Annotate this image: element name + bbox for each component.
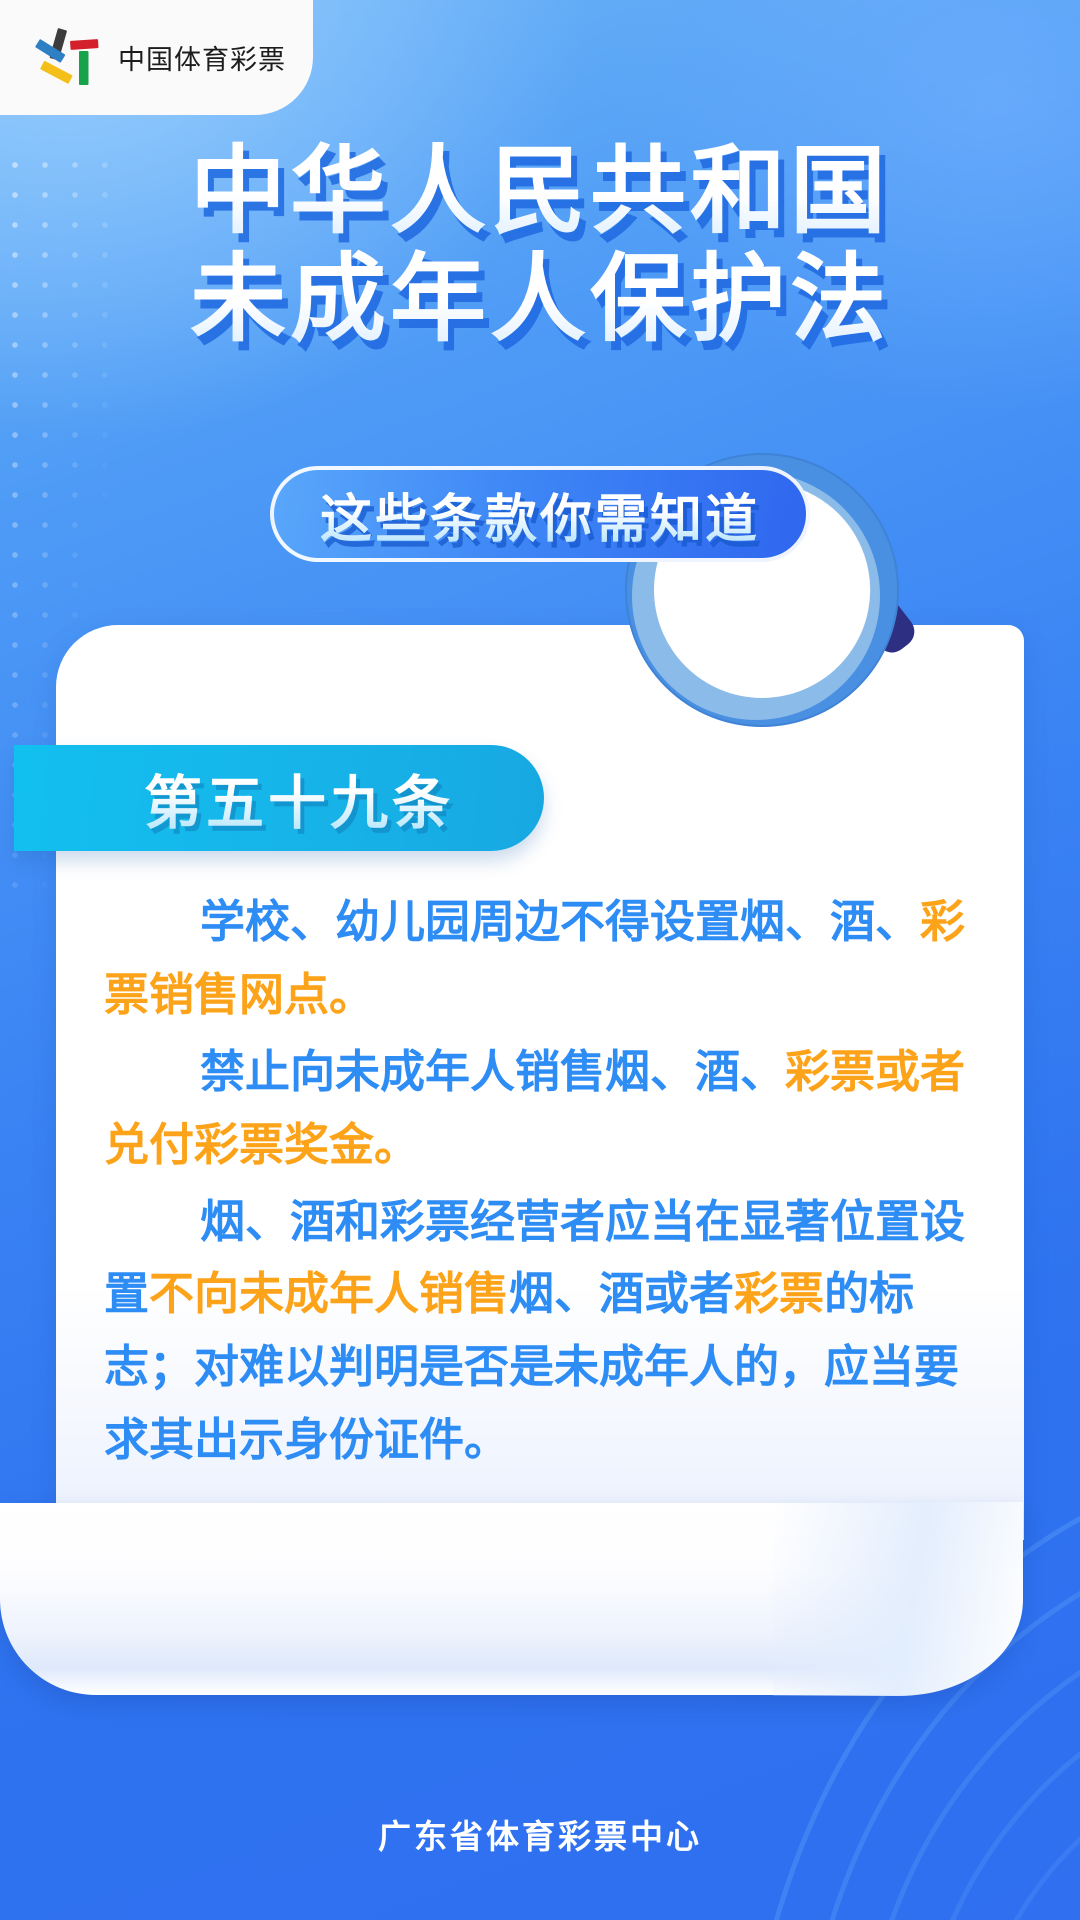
body-text-run: 禁止向未成年人销售烟、酒、 bbox=[200, 1045, 785, 1098]
article-paragraph: 学校、幼儿园周边不得设置烟、酒、彩票销售网点。 bbox=[104, 886, 984, 1032]
article-number-badge: 第五十九条 bbox=[14, 745, 544, 851]
article-paragraph: 禁止向未成年人销售烟、酒、彩票或者兑付彩票奖金。 bbox=[104, 1036, 984, 1182]
footer-organization-label: 广东省体育彩票中心 bbox=[378, 1817, 702, 1856]
page-title-line-2: 未成年人保护法 bbox=[0, 246, 1080, 354]
body-text-run: 烟、酒或者 bbox=[509, 1267, 734, 1320]
subtitle-pill: 这些条款你需知道 bbox=[270, 466, 810, 562]
china-sports-lottery-logo-icon bbox=[34, 27, 100, 89]
highlighted-text: 。 bbox=[329, 968, 374, 1021]
article-paragraph: 烟、酒和彩票经营者应当在显著位置设置不向未成年人销售烟、酒或者彩票的标志；对难以… bbox=[104, 1186, 984, 1478]
page-title-line-1: 中华人民共和国 bbox=[0, 138, 1080, 246]
background-glow-top-right bbox=[580, 0, 1080, 440]
brand-chip: 中国体育彩票 bbox=[0, 0, 313, 115]
highlighted-text: 彩票 bbox=[734, 1267, 824, 1320]
poster-canvas: 中国体育彩票 中华人民共和国 未成年人保护法 这些条款你需知道 第五十九条 学 bbox=[0, 0, 1080, 1920]
page-title: 中华人民共和国 未成年人保护法 bbox=[0, 138, 1080, 353]
subtitle-label: 这些条款你需知道 bbox=[320, 477, 760, 552]
article-body: 学校、幼儿园周边不得设置烟、酒、彩票销售网点。禁止向未成年人销售烟、酒、彩票或者… bbox=[104, 886, 984, 1481]
highlighted-text: 不向未成年人销售 bbox=[149, 1267, 509, 1320]
body-text-run: 学校、幼儿园周边不得设置烟、酒、 bbox=[200, 895, 920, 948]
brand-name-label: 中国体育彩票 bbox=[118, 38, 286, 77]
article-number-label: 第五十九条 bbox=[104, 756, 454, 840]
footer: 广东省体育彩票中心 bbox=[0, 1810, 1080, 1858]
paper-scroll-curl bbox=[0, 1503, 1022, 1695]
